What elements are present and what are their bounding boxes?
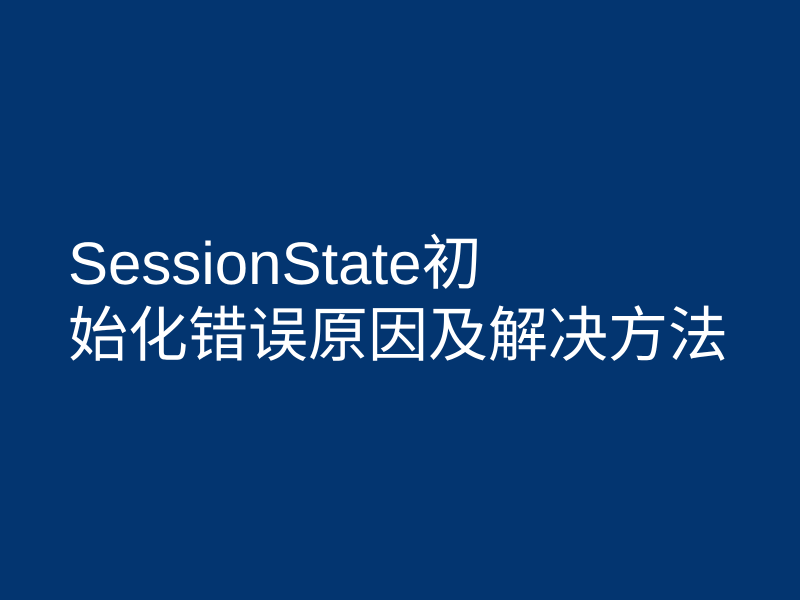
page-title: SessionState初 始化错误原因及解决方法 [68, 228, 728, 372]
title-line-1: SessionState初 [68, 228, 728, 300]
title-line-2: 始化错误原因及解决方法 [68, 300, 728, 372]
title-card: SessionState初 始化错误原因及解决方法 [0, 0, 800, 600]
